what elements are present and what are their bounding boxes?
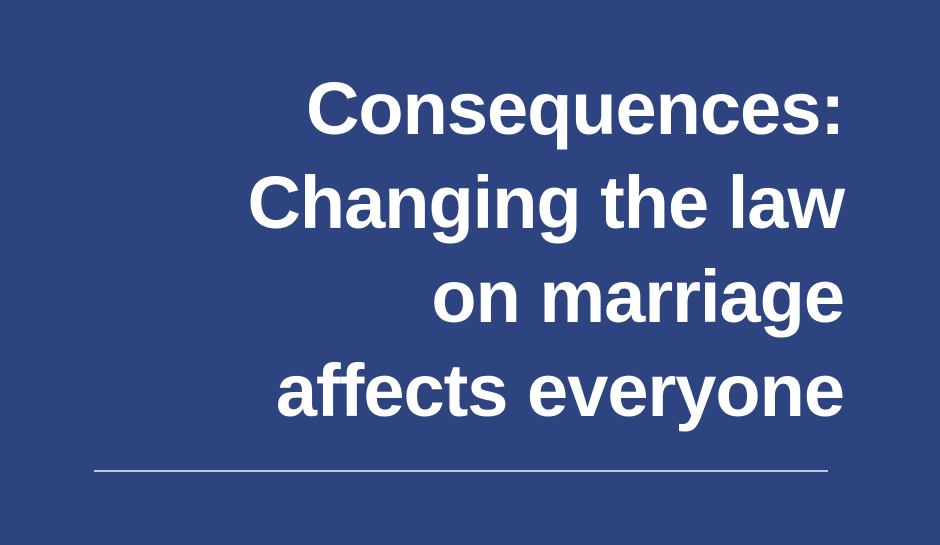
title-line-2: Changing the law [0,156,844,250]
page-title: Consequences: Changing the law on marria… [0,62,844,438]
title-line-1: Consequences: [0,62,844,156]
title-line-3: on marriage [0,250,844,344]
slide: Consequences: Changing the law on marria… [0,0,940,545]
divider [94,470,828,472]
title-line-4: affects everyone [0,344,844,438]
